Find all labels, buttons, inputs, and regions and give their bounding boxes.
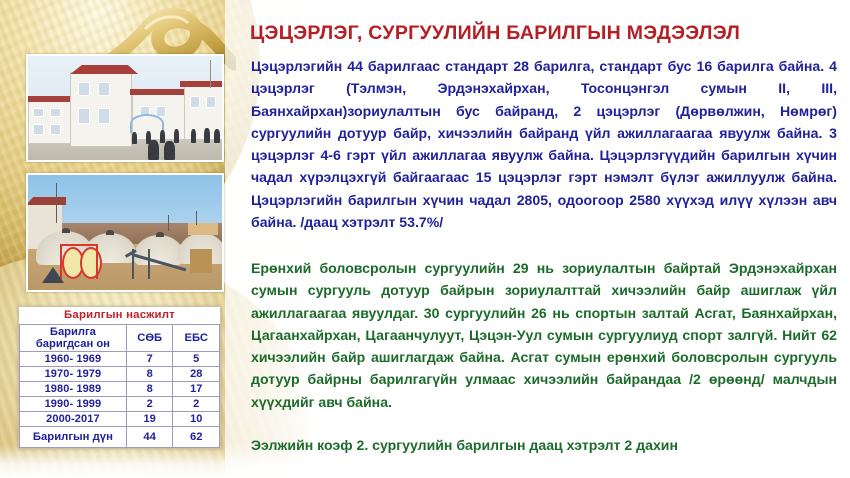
photo-playground-ring [80,247,102,279]
table-header-row: Барилга баригдсан он СӨБ ЕБС [20,325,220,352]
photo-playground-frame [96,245,98,279]
photo-pole [56,183,57,223]
photo-playground-frame [60,244,98,246]
table-caption-row: Барилгын насжилт [20,307,220,325]
table-cell-ebs: 28 [173,367,220,382]
table-cell-period: 1990- 1999 [20,397,127,412]
page-title: ЦЭЦЭРЛЭГ, СУРГУУЛИЙН БАРИЛГЫН МЭДЭЭЛЭЛ [250,22,830,45]
photo-window [206,96,216,108]
table-cell-period: 1970- 1979 [20,367,127,382]
photo-ger-top [106,230,114,235]
photo-window [78,82,90,96]
table-row: 2000-2017 19 10 [20,412,220,427]
table-caption: Барилгын насжилт [20,307,220,325]
table-cell-ebs: 17 [173,382,220,397]
coefficient-paragraph: Ээлжийн коэф 2. сургуулийн барилгын даац… [251,434,837,456]
school-building-photo [26,54,224,162]
table-cell-sob: 8 [126,382,173,397]
building-age-table: Барилгын насжилт Барилга баригдсан он СӨ… [18,306,221,449]
photo-pole [196,211,197,225]
photo-window [50,108,61,117]
photo-window [78,108,90,124]
table-cell-period: 1980- 1989 [20,382,127,397]
table-cell-period: 2000-2017 [20,412,127,427]
photo-person [204,128,210,143]
table-header-period: Барилга баригдсан он [20,325,127,352]
photo-person-foreground [148,140,159,160]
table-header-ebs: ЕБС [173,325,220,352]
photo-window [50,124,61,135]
table-row: 1980- 1989 8 17 [20,382,220,397]
photo-distant-buildings [188,223,218,235]
photo-person [214,129,220,143]
table-cell-sob: 8 [126,367,173,382]
table-cell-sob: 7 [126,352,173,367]
photo-window [98,82,110,96]
photo-window [98,108,110,124]
table-cell-sob: 2 [126,397,173,412]
photo-ger-top [62,228,70,233]
table-cell-sob: 19 [126,412,173,427]
photo-window [33,108,44,117]
photo-person-foreground [164,141,175,160]
table-header-sob: СӨБ [126,325,173,352]
photo-person [132,132,137,144]
slide-canvas: ЦЭЦЭРЛЭГ, СУРГУУЛИЙН БАРИЛГЫН МЭДЭЭЛЭЛ [0,0,850,478]
table-cell-period: 1960- 1969 [20,352,127,367]
table-row: 1970- 1979 8 28 [20,367,220,382]
table-cell-ebs: 10 [173,412,220,427]
photo-person [174,129,179,143]
school-paragraph: Ерөнхий боловсролын сургуулийн 29 нь зор… [251,257,837,413]
ger-kindergarten-photo [26,173,224,292]
table-total-label: Барилгын дүн [20,427,127,448]
photo-playground-frame [60,245,62,279]
photo-window [190,96,200,108]
table-row: 1960- 1969 7 5 [20,352,220,367]
photo-pole [168,215,169,231]
kindergarten-paragraph: Цэцэрлэгийн 44 барилгаас стандарт 28 бар… [251,55,837,233]
table-cell-ebs: 2 [173,397,220,412]
photo-wooden-frame [190,249,212,273]
photo-person [191,129,196,143]
table-total-ebs: 62 [173,427,220,448]
photo-antenna-mast [210,60,211,88]
table-total-row: Барилгын дүн 44 62 [20,427,220,448]
photo-window [33,124,44,135]
building-age-table-grid: Барилгын насжилт Барилга баригдсан он СӨ… [19,307,220,448]
photo-roof-right [130,89,188,95]
photo-person [160,130,165,143]
table-row: 1990- 1999 2 2 [20,397,220,412]
photo-roof-far-right [180,81,224,87]
photo-slide-frame [148,249,150,279]
photo-ger-top [156,232,164,237]
table-cell-ebs: 5 [173,352,220,367]
table-total-sob: 44 [126,427,173,448]
